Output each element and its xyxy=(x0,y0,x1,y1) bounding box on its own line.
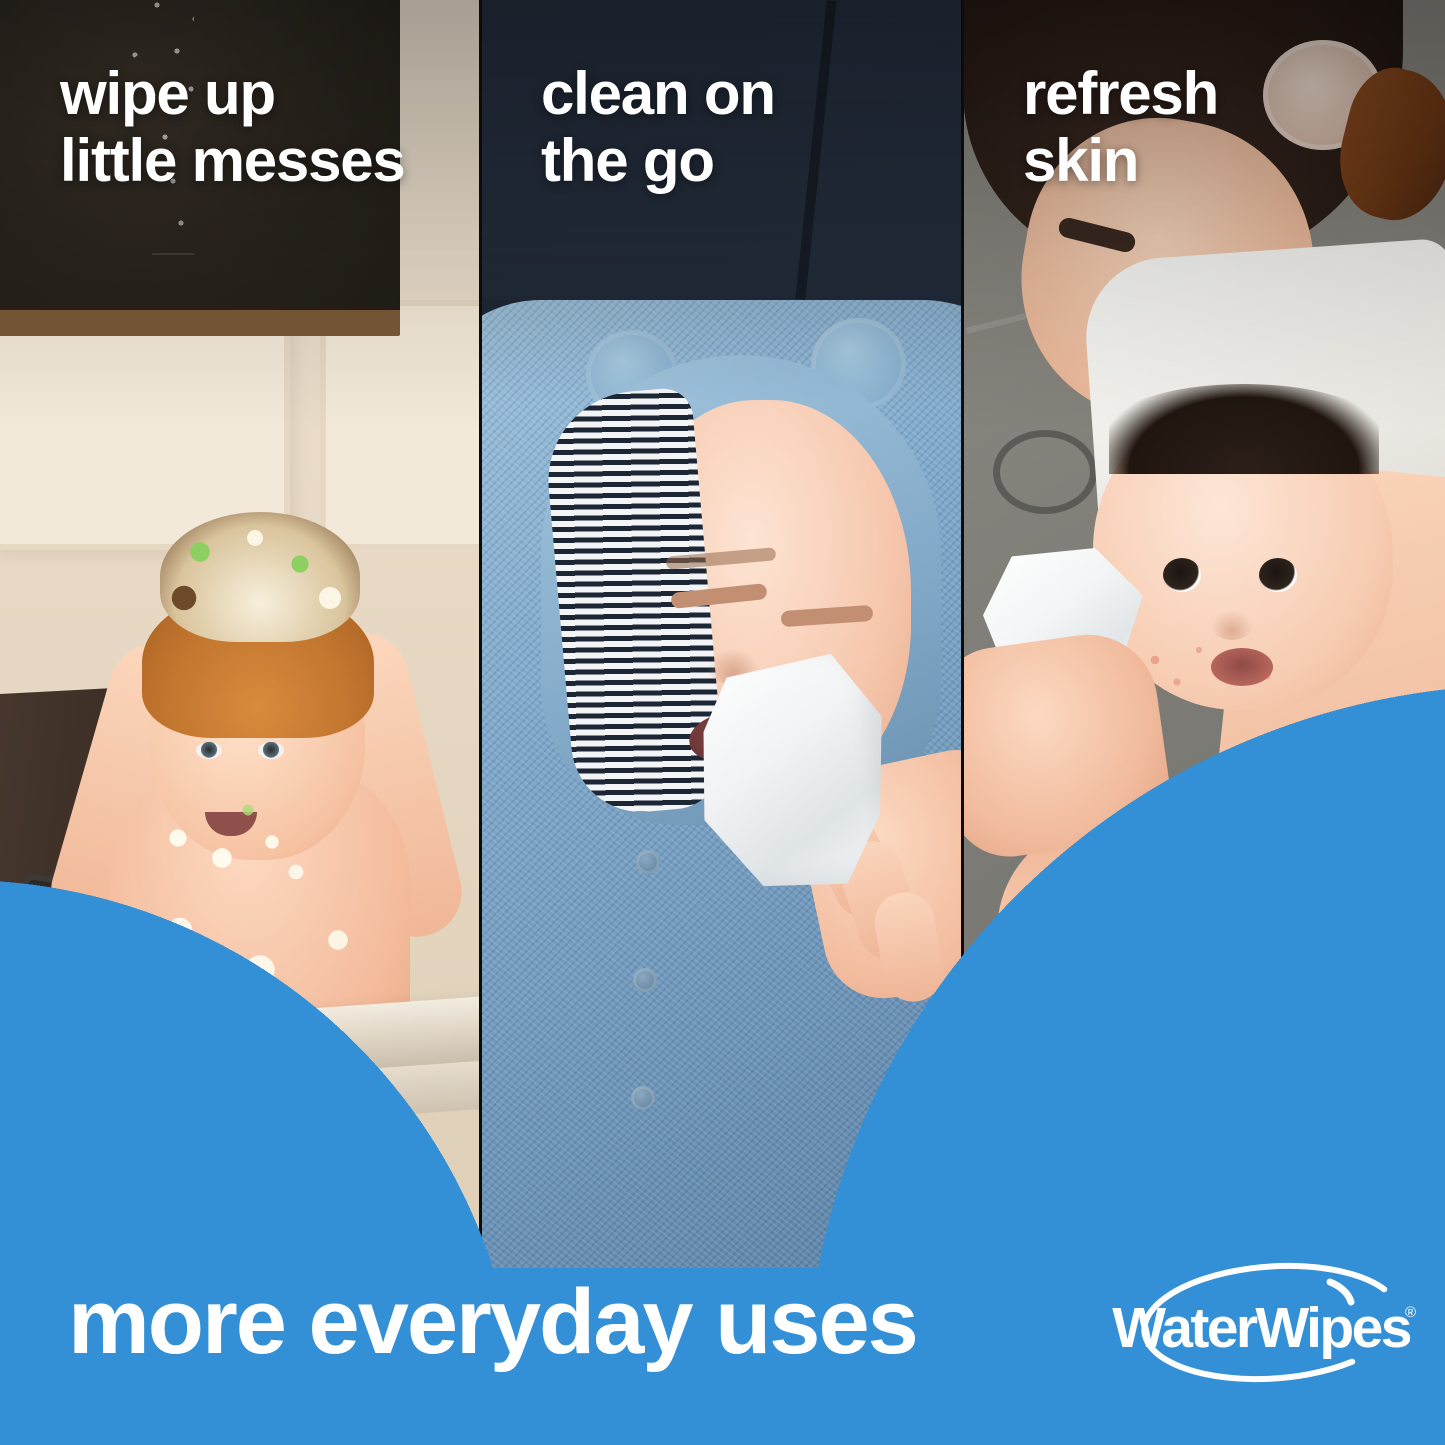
waterwipes-logo: WaterWipes ® xyxy=(1098,1258,1424,1408)
caption-refresh-skin: refresh skin xyxy=(1023,60,1218,194)
panel-divider-1 xyxy=(479,0,482,1268)
caption-clean-on-the-go: clean on the go xyxy=(541,60,775,194)
panel-divider-2 xyxy=(961,0,964,1268)
caption-wipe-up-little-messes: wipe up little messes xyxy=(60,60,405,194)
waterwipes-advertisement: wipe up little messes clean on the go re… xyxy=(0,0,1445,1445)
registered-trademark-icon: ® xyxy=(1405,1304,1416,1321)
waterwipes-wordmark: WaterWipes xyxy=(1098,1300,1424,1357)
footer-tagline: more everyday uses xyxy=(68,1276,917,1368)
